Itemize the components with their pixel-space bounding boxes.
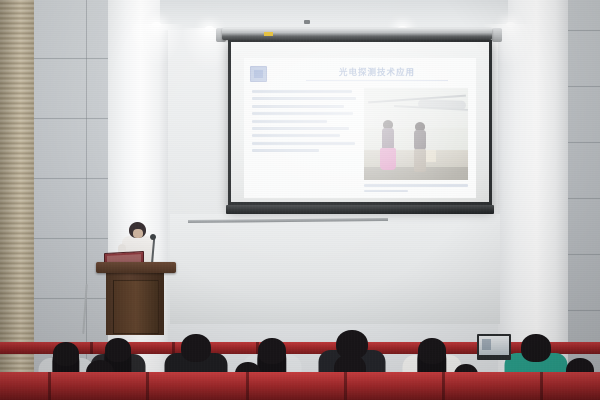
slide-body-text [252, 90, 356, 157]
slide-photo-caption [364, 184, 468, 195]
audience-member-head [418, 338, 446, 364]
microphone-icon [150, 234, 156, 240]
screen-roller-housing [222, 28, 492, 40]
slide-title-rule [306, 80, 448, 81]
slide-photo-person [412, 122, 428, 172]
slide-photo [364, 88, 468, 180]
audience-member-head [521, 334, 551, 362]
audience-member-head [181, 334, 211, 362]
screen-brand-sticker [264, 32, 273, 36]
projected-slide: 光电探测技术应用 [244, 58, 476, 198]
audience-member-head [105, 338, 131, 362]
screen-housing-endcap [492, 28, 502, 42]
front-row-seats [0, 372, 600, 400]
audience [0, 290, 600, 400]
audience-member-head [258, 338, 286, 364]
spotlight-icon [152, 22, 161, 27]
slide-logo-icon [250, 66, 267, 82]
slide-photo-person [380, 120, 396, 170]
spotlight-icon [205, 26, 214, 31]
slide-title: 光电探测技术应用 [302, 66, 452, 78]
screen-weight-bar [226, 205, 494, 214]
lecture-hall-photo: 光电探测技术应用 [0, 0, 600, 400]
screen-ceiling-mount [304, 20, 310, 24]
spotlight-icon [506, 22, 515, 27]
audience-laptop [477, 334, 511, 360]
